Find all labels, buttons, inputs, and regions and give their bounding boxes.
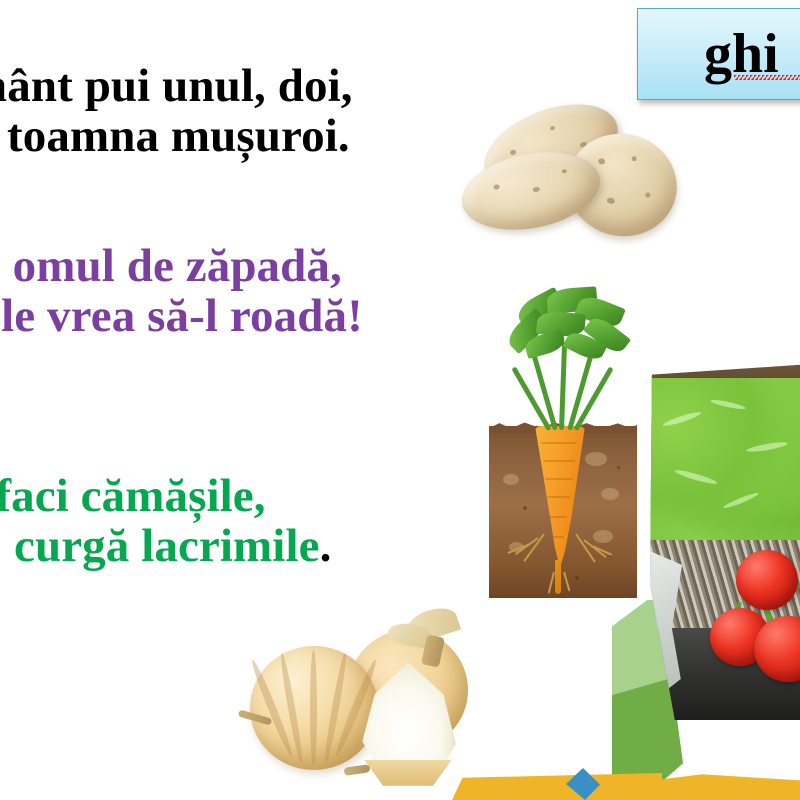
poem-line: curgă lacrimile. xyxy=(14,522,331,572)
poem-line: esfaci cămășile, xyxy=(0,472,331,522)
lettuce-tomato-basket-image xyxy=(636,364,800,720)
poem-final-period: . xyxy=(320,520,332,572)
onion-root-tail xyxy=(344,764,371,776)
onions-image xyxy=(238,610,488,792)
poem-line: la omul de zăpadă, xyxy=(0,242,363,292)
potatoes-image xyxy=(455,96,685,256)
spellcheck-squiggle-icon xyxy=(734,75,800,80)
title-box[interactable]: ghi xyxy=(637,8,800,100)
poem-stanza-3: esfaci cămășile, curgă lacrimile. xyxy=(0,472,331,572)
onion-cut-rim xyxy=(356,760,460,790)
yellow-band-right xyxy=(596,772,800,800)
onion-whole xyxy=(250,646,378,770)
poem-line: mânt pui unul, doi, xyxy=(0,62,353,112)
title-text: ghi xyxy=(704,26,779,82)
green-polygon-small xyxy=(480,762,632,800)
poem-stanza-2: la omul de zăpadă, rele vrea să-l roadă! xyxy=(0,242,363,342)
poem-line-text: curgă lacrimile xyxy=(14,520,320,572)
carrot-in-soil-image xyxy=(489,286,637,598)
slide-canvas: mânt pui unul, doi, i toamna mușuroi. la… xyxy=(0,0,800,800)
blue-diamond xyxy=(566,768,600,800)
lettuce-heads xyxy=(636,378,800,548)
poem-line: i toamna mușuroi. xyxy=(0,112,353,162)
poem-stanza-1: mânt pui unul, doi, i toamna mușuroi. xyxy=(0,62,353,162)
poem-line: rele vrea să-l roadă! xyxy=(0,292,363,342)
carrot-tip xyxy=(555,560,561,594)
tomato xyxy=(736,550,798,610)
